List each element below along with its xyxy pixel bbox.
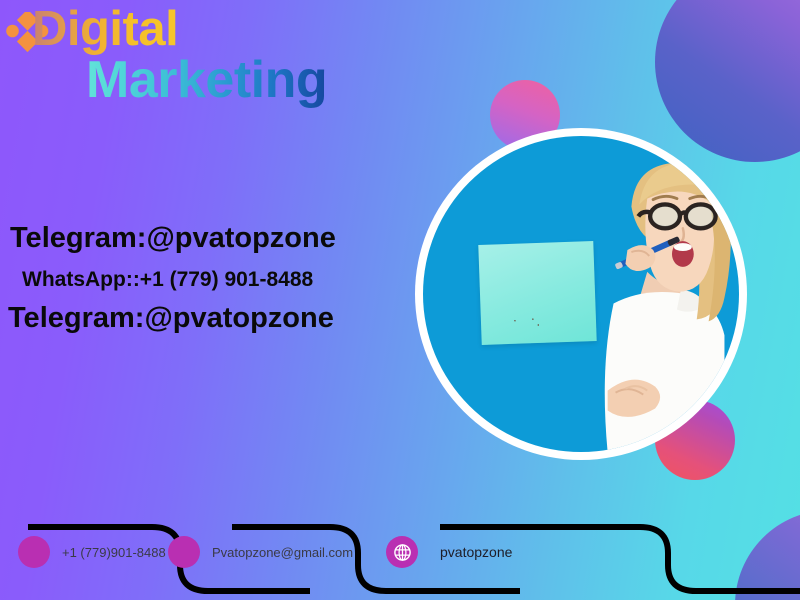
whatsapp-number: WhatsApp::+1 (779) 901-8488 [22, 268, 400, 292]
contact-phone-text: +1 (779)901-8488 [62, 545, 166, 560]
contact-item-phone[interactable]: +1 (779)901-8488 [18, 536, 166, 568]
globe-icon [386, 536, 418, 568]
email-icon [168, 536, 200, 568]
person-photo [595, 155, 739, 452]
contact-headline-block: Telegram:@pvatopzone WhatsApp::+1 (779) … [0, 222, 400, 335]
telegram-handle-primary: Telegram:@pvatopzone [10, 222, 400, 255]
contact-website-text: pvatopzone [440, 544, 512, 560]
photo-circle [415, 128, 747, 460]
presentation-board [478, 241, 596, 345]
contact-item-website[interactable]: pvatopzone [386, 536, 512, 568]
telegram-handle-secondary: Telegram:@pvatopzone [8, 302, 400, 335]
photo-inner-disc [423, 136, 739, 452]
contact-item-email[interactable]: Pvatopzone@gmail.com [168, 536, 353, 568]
contact-email-text: Pvatopzone@gmail.com [212, 545, 353, 560]
brand-word-digital: Digital [32, 1, 178, 57]
decorative-circle-top-right [655, 0, 800, 162]
contact-bar: +1 (779)901-8488 Pvatopzone@gmail.com pv… [0, 505, 800, 600]
brand-word-marketing: Marketing [86, 50, 327, 110]
phone-icon [18, 536, 50, 568]
